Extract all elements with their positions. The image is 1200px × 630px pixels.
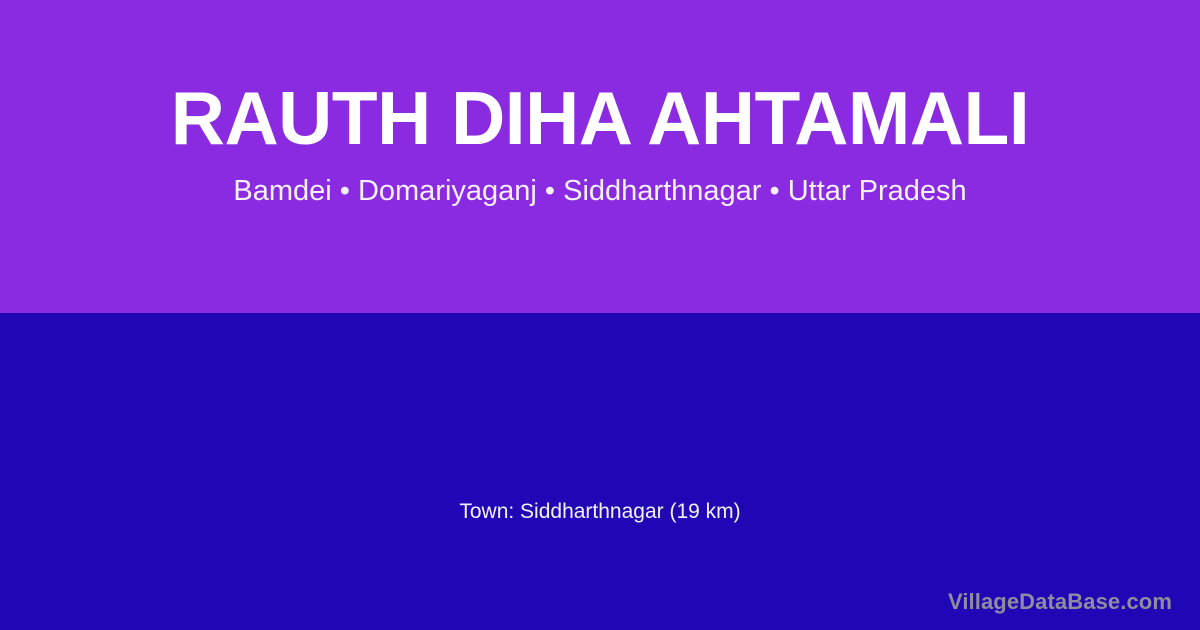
breadcrumb: Bamdei • Domariyaganj • Siddharthnagar •…: [233, 172, 966, 210]
site-watermark: VillageDataBase.com: [948, 588, 1172, 616]
nearest-town-distance: Town: Siddharthnagar (19 km): [0, 499, 1200, 525]
card-header: RAUTH DIHA AHTAMALI Bamdei • Domariyagan…: [0, 0, 1200, 313]
page-title: RAUTH DIHA AHTAMALI: [171, 78, 1029, 158]
village-info-card: RAUTH DIHA AHTAMALI Bamdei • Domariyagan…: [0, 0, 1200, 630]
card-body: Town: Siddharthnagar (19 km) VillageData…: [0, 313, 1200, 630]
